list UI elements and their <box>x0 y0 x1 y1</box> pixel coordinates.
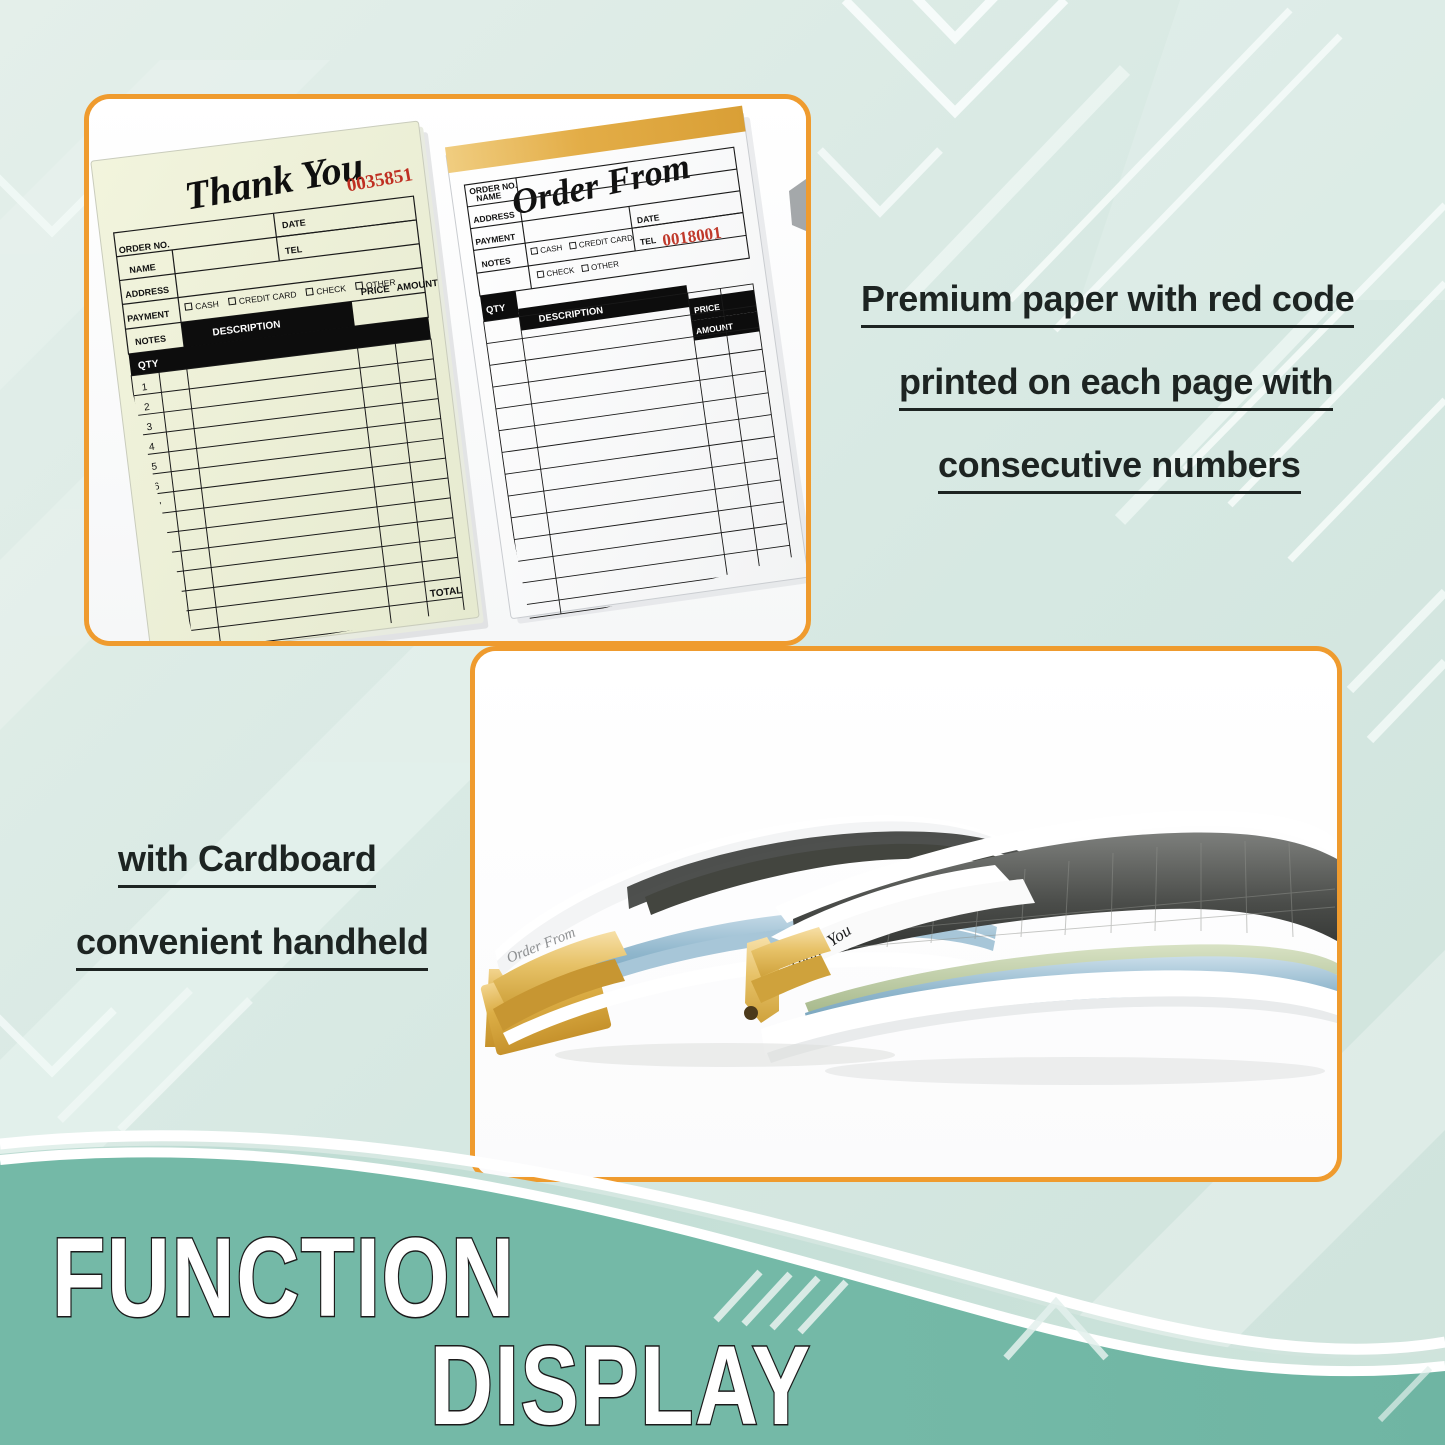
feature-text-right: Premium paper with red code printed on e… <box>861 278 1354 527</box>
infographic-canvas: Order From 0018001 ORDER NO. NAME <box>0 0 1445 1445</box>
receipt-books-photo: Order From <box>475 651 1337 1177</box>
feature-right-line-3: consecutive numbers <box>938 444 1301 494</box>
banner-title-line-1: FUNCTION <box>52 1222 516 1334</box>
feature-left-line-2: convenient handheld <box>76 921 428 971</box>
feature-text-left: with Cardboard convenient handheld <box>76 838 428 1004</box>
feature-left-line-1: with Cardboard <box>118 838 376 888</box>
receipt-forms-photo: Order From 0018001 ORDER NO. NAME <box>89 99 806 641</box>
banner-title-line-2: DISPLAY <box>430 1330 812 1442</box>
photo-panel-books: Order From <box>470 646 1342 1182</box>
feature-right-line-2: printed on each page with <box>899 361 1333 411</box>
feature-right-line-1: Premium paper with red code <box>861 278 1354 328</box>
photo-panel-forms: Order From 0018001 ORDER NO. NAME <box>84 94 811 646</box>
svg-text:TEL: TEL <box>285 244 304 256</box>
